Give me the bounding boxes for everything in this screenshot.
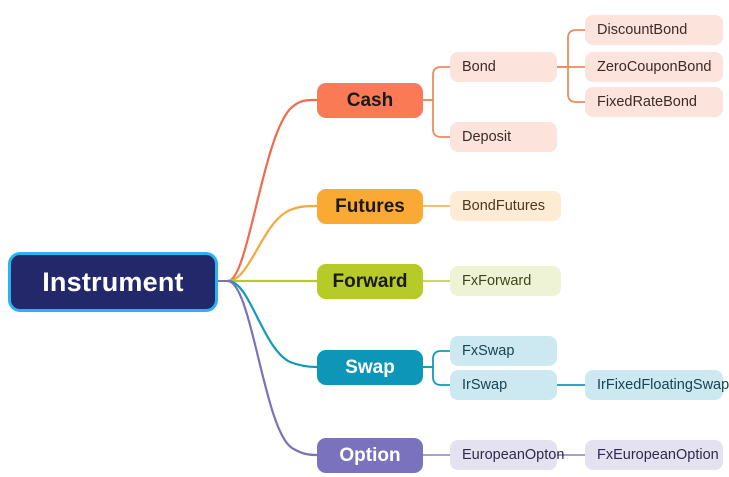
edge-root-option [228,281,317,455]
branch-node-forward[interactable]: Forward [317,264,423,299]
branch-node-label: Forward [333,271,408,293]
leaf-node-label: Deposit [462,129,511,145]
edge-swap-fxswap [423,351,450,367]
leaf-node-bondfutures[interactable]: BondFutures [450,191,561,221]
edge-root-futures [228,206,317,281]
edge-root-swap [228,281,317,367]
mindmap-canvas: Instrument Cash Futures Forward Swap Opt… [0,0,729,477]
leaf-node-fixedratebond[interactable]: FixedRateBond [585,87,723,117]
branch-node-label: Option [339,445,400,467]
leaf-node-label: EuropeanOpton [462,447,564,463]
leaf-node-label: FxForward [462,273,531,289]
branch-node-cash[interactable]: Cash [317,83,423,118]
branch-node-label: Cash [347,90,393,112]
branch-node-futures[interactable]: Futures [317,189,423,224]
leaf-node-label: DiscountBond [597,22,687,38]
leaf-node-fxswap[interactable]: FxSwap [450,336,557,366]
leaf-node-label: IrFixedFloatingSwap [597,377,729,393]
root-node-label: Instrument [42,267,184,298]
leaf-node-label: BondFutures [462,198,545,214]
leaf-node-zerocouponbond[interactable]: ZeroCouponBond [585,52,723,82]
leaf-node-irfixedfloatingswap[interactable]: IrFixedFloatingSwap [585,370,723,400]
leaf-node-label: ZeroCouponBond [597,59,711,75]
leaf-node-fxeuropeanoption[interactable]: FxEuropeanOption [585,440,723,470]
leaf-node-bond[interactable]: Bond [450,52,557,82]
edge-swap-irswap [423,367,450,385]
edge-cash-bond [423,67,450,100]
edge-root-cash [228,100,317,281]
leaf-node-label: IrSwap [462,377,507,393]
branch-node-option[interactable]: Option [317,438,423,473]
leaf-node-deposit[interactable]: Deposit [450,122,557,152]
edge-bond-fixedratebond [557,67,585,102]
root-node-instrument[interactable]: Instrument [8,252,218,312]
edge-cash-deposit [423,100,450,137]
leaf-node-label: FxEuropeanOption [597,447,719,463]
leaf-node-irswap[interactable]: IrSwap [450,370,557,400]
leaf-node-discountbond[interactable]: DiscountBond [585,15,723,45]
leaf-node-europeanopton[interactable]: EuropeanOpton [450,440,557,470]
leaf-node-label: FixedRateBond [597,94,697,110]
leaf-node-fxforward[interactable]: FxForward [450,266,561,296]
branch-node-swap[interactable]: Swap [317,350,423,385]
branch-node-label: Futures [335,196,405,218]
edge-bond-discountbond [557,30,585,67]
branch-node-label: Swap [345,357,395,379]
leaf-node-label: Bond [462,59,496,75]
leaf-node-label: FxSwap [462,343,514,359]
